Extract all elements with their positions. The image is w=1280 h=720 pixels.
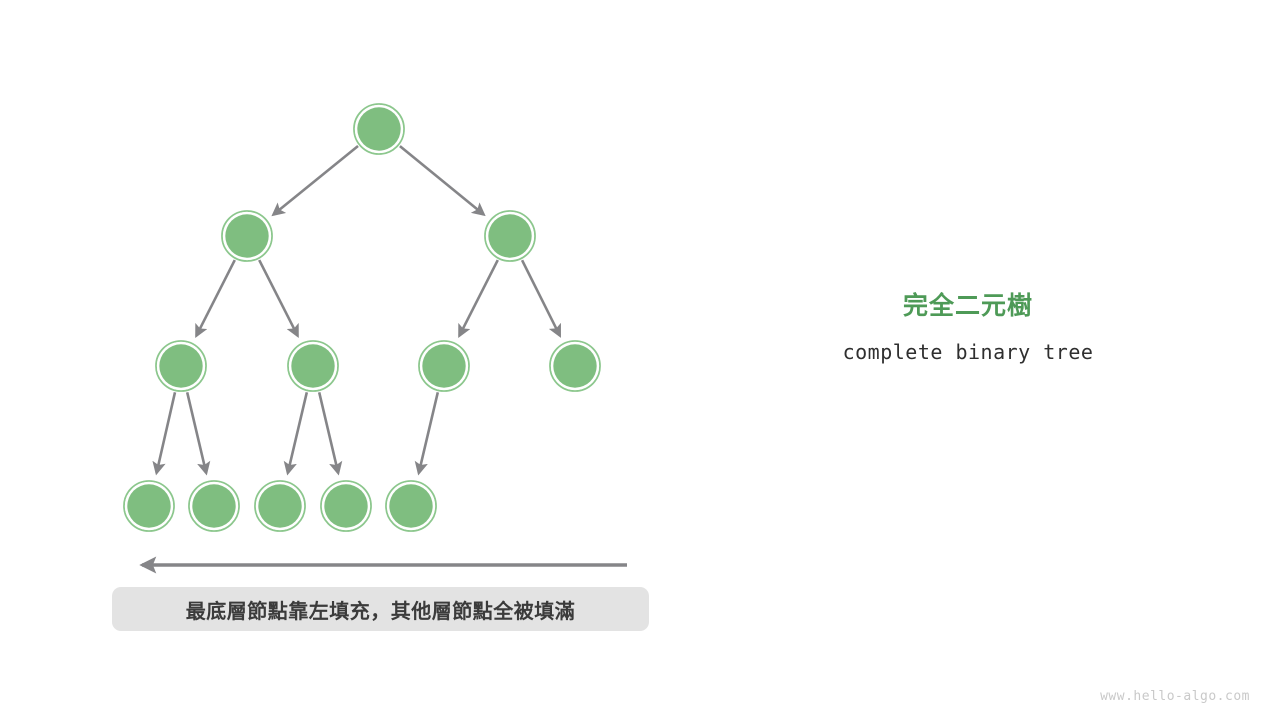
tree-edge xyxy=(273,146,358,215)
tree-edge xyxy=(419,392,438,473)
tree-edge xyxy=(259,260,297,336)
tree-edge xyxy=(459,260,497,336)
tree-node[interactable] xyxy=(189,481,239,531)
tree-node[interactable] xyxy=(550,341,600,391)
figure-title-en: complete binary tree xyxy=(768,340,1168,364)
figure-title-zh: 完全二元樹 xyxy=(768,290,1168,322)
caption-box: 最底層節點靠左填充，其他層節點全被填滿 xyxy=(112,587,649,631)
tree-edge xyxy=(187,392,206,473)
figure-label-block: 完全二元樹 complete binary tree xyxy=(768,290,1168,364)
caption-text: 最底層節點靠左填充，其他層節點全被填滿 xyxy=(186,595,576,624)
tree-node[interactable] xyxy=(485,211,535,261)
tree-node[interactable] xyxy=(386,481,436,531)
watermark: www.hello-algo.com xyxy=(1100,689,1250,704)
tree-edge xyxy=(196,260,234,336)
tree-node[interactable] xyxy=(222,211,272,261)
tree-node[interactable] xyxy=(156,341,206,391)
tree-node[interactable] xyxy=(354,104,404,154)
tree-edge xyxy=(522,260,560,335)
tree-node[interactable] xyxy=(419,341,469,391)
tree-node[interactable] xyxy=(255,481,305,531)
tree-nodes xyxy=(124,104,600,531)
tree-node[interactable] xyxy=(288,341,338,391)
tree-edge xyxy=(157,392,175,473)
tree-edge xyxy=(400,146,484,214)
tree-node[interactable] xyxy=(124,481,174,531)
tree-node[interactable] xyxy=(321,481,371,531)
tree-edge xyxy=(319,392,338,473)
tree-edge xyxy=(288,392,307,473)
tree-edges xyxy=(157,146,560,473)
